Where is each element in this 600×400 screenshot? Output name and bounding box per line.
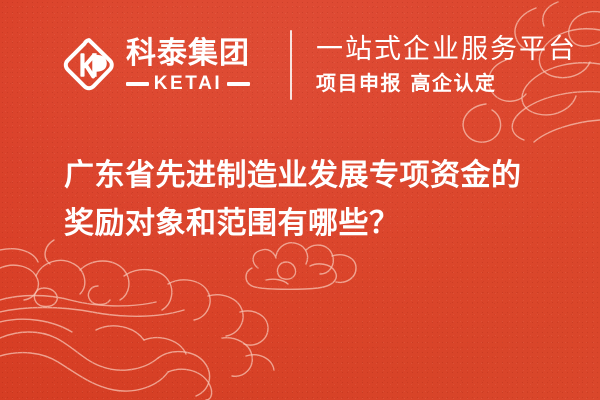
tagline-primary: 一站式企业服务平台	[316, 36, 577, 64]
banner-header: 科泰集团 KETAI 一站式企业服务平台 项目申报 高企认定	[0, 0, 600, 130]
brand-wordmark: 科泰集团 KETAI	[126, 37, 250, 93]
header-divider	[290, 30, 292, 100]
tagline-group: 一站式企业服务平台 项目申报 高企认定	[316, 36, 577, 93]
promo-banner: 科泰集团 KETAI 一站式企业服务平台 项目申报 高企认定 广东省先进制造业发…	[0, 0, 600, 400]
tagline-secondary: 项目申报 高企认定	[316, 73, 577, 94]
headline-line-2: 奖励对象和范围有哪些？	[64, 200, 564, 248]
wordmark-rule-right	[227, 82, 250, 86]
headline-line-1: 广东省先进制造业发展专项资金的	[64, 152, 564, 200]
brand-lockup: 科泰集团 KETAI	[60, 36, 272, 94]
ketai-logo-icon	[60, 36, 118, 94]
brand-name-en: KETAI	[154, 74, 223, 93]
wordmark-rule-left	[126, 82, 149, 86]
brand-name-cn: 科泰集团	[126, 39, 250, 69]
headline-block: 广东省先进制造业发展专项资金的 奖励对象和范围有哪些？	[64, 152, 564, 248]
brand-name-en-row: KETAI	[126, 74, 250, 93]
